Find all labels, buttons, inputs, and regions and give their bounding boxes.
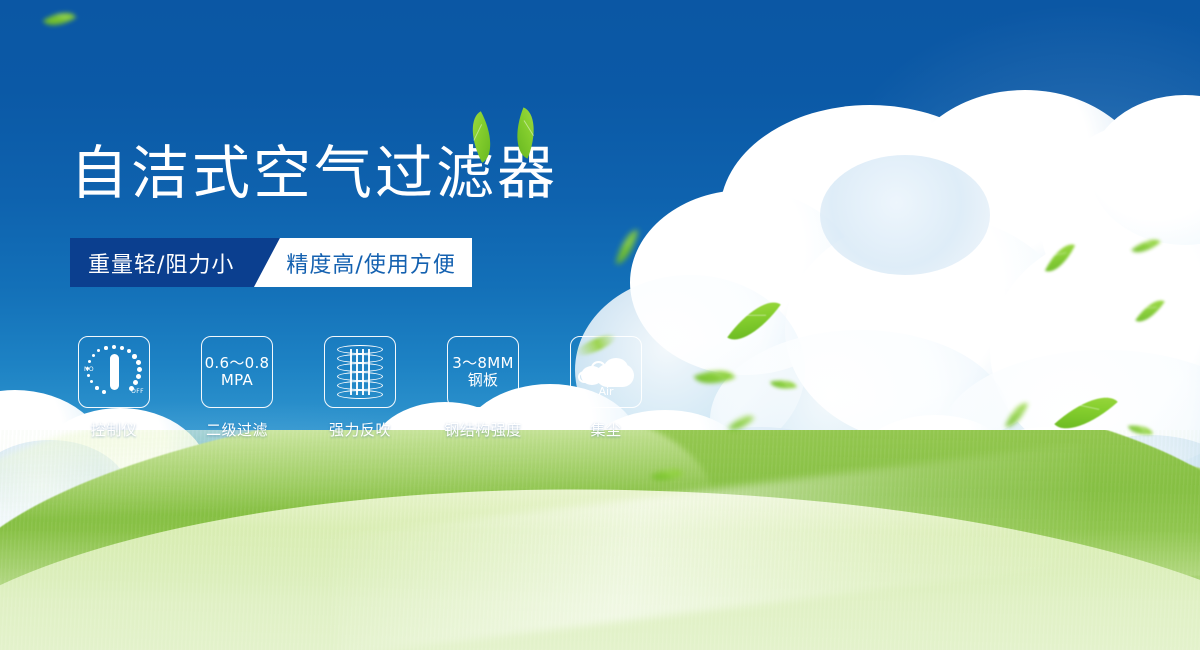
feature-item-backblow: 强力反吹 bbox=[324, 336, 396, 440]
steel-plate-text-icon: 3～8MM 钢板 bbox=[452, 355, 513, 389]
product-banner: 自洁式空气过滤器 重量轻/阻力小 精度高/使用方便 bbox=[0, 0, 1200, 650]
grass-sheen bbox=[0, 530, 1200, 650]
feature-item-dust: Air 集尘 bbox=[570, 336, 642, 440]
subtitle-right: 精度高/使用方便 bbox=[280, 238, 471, 287]
feature-label: 集尘 bbox=[590, 419, 621, 440]
feature-item-controller: NO OFF 控制仪 bbox=[78, 336, 150, 440]
feature-icon-box: Air bbox=[570, 336, 642, 408]
subtitle-bar: 重量轻/阻力小 精度高/使用方便 bbox=[70, 238, 472, 287]
sprout-leaf-left bbox=[461, 111, 503, 162]
steel-line-2: 钢板 bbox=[452, 372, 513, 389]
subtitle-slant-divider bbox=[254, 238, 280, 287]
pressure-line-2: MPA bbox=[205, 372, 270, 389]
air-label: Air bbox=[578, 385, 634, 398]
cloud-air-icon: Air bbox=[578, 349, 634, 395]
feature-icon-box: 0.6～0.8 MPA bbox=[201, 336, 273, 408]
feature-label: 钢结构强度 bbox=[444, 419, 522, 440]
filter-disc-stack-icon bbox=[337, 345, 383, 399]
steel-line-1: 3～8MM bbox=[452, 355, 513, 372]
pressure-line-1: 0.6～0.8 bbox=[205, 355, 270, 372]
gauge-label-off: OFF bbox=[131, 388, 144, 395]
feature-list: NO OFF 控制仪 0.6～0.8 MPA 二级过滤 bbox=[78, 336, 642, 440]
feature-item-steel: 3～8MM 钢板 钢结构强度 bbox=[447, 336, 519, 440]
feature-label: 控制仪 bbox=[91, 419, 138, 440]
subtitle-left: 重量轻/阻力小 bbox=[70, 238, 254, 287]
sprout-leaf-right bbox=[506, 107, 545, 158]
gauge-icon: NO OFF bbox=[85, 345, 143, 399]
gauge-label-on: NO bbox=[84, 366, 94, 373]
sprout-leaves-decoration bbox=[466, 108, 558, 166]
feature-icon-box bbox=[324, 336, 396, 408]
feature-icon-box: 3～8MM 钢板 bbox=[447, 336, 519, 408]
feature-icon-box: NO OFF bbox=[78, 336, 150, 408]
feature-label: 二级过滤 bbox=[206, 419, 268, 440]
pressure-text-icon: 0.6～0.8 MPA bbox=[205, 355, 270, 389]
feature-item-pressure: 0.6～0.8 MPA 二级过滤 bbox=[201, 336, 273, 440]
feature-label: 强力反吹 bbox=[329, 419, 391, 440]
grass-field bbox=[0, 430, 1200, 650]
gauge-needle bbox=[110, 354, 119, 390]
